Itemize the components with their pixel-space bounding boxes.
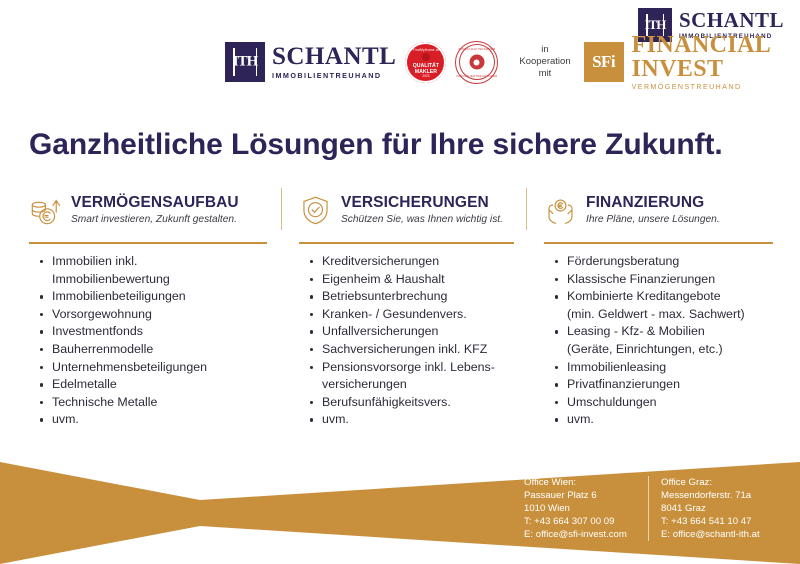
ith-monogram-text: ITH (225, 54, 265, 71)
list-item: Vorsorgewohnung (40, 306, 267, 324)
column-subtitle: Schützen Sie, was Ihnen wichtig ist. (341, 214, 503, 225)
ith-brand-name: SCHANTL (272, 44, 396, 69)
list-item: uvm. (40, 411, 267, 429)
qualitaetsmakler-seal-icon: FindMyHome.at QUALITÄT MAKLER 2023 (405, 42, 446, 83)
service-column-versicherungen: VERSICHERUNGEN Schützen Sie, was Ihnen w… (281, 188, 526, 429)
office-email[interactable]: E: office@schantl-ith.at (661, 528, 760, 541)
service-list: Kreditversicherungen Eigenheim & Haushal… (299, 253, 514, 429)
sfi-financial-invest-logo: SFi FINANCIAL INVEST VERMÖGENSTREUHAND (584, 33, 800, 91)
sfi-monogram-text: SFi (584, 52, 624, 72)
ith-wordmark: SCHANTL IMMOBILIENTREUHAND (272, 44, 396, 79)
list-item: Pensionsvorsorge inkl. Lebens- (310, 359, 514, 377)
list-item: Kranken- / Gesundenvers. (310, 306, 514, 324)
ith-monogram-icon: ITH (225, 42, 265, 82)
seal-bottom-text: IMMOBILIENTREUHÄNDER (456, 74, 497, 78)
partner-logo-row: ITH SCHANTL IMMOBILIENTREUHAND FindMyHom… (225, 33, 800, 91)
office-phone[interactable]: T: +43 664 307 00 09 (524, 515, 648, 528)
list-item: Sachversicherungen inkl. KFZ (310, 341, 514, 359)
footer-contact-info: Office Wien: Passauer Platz 6 1010 Wien … (524, 476, 760, 541)
list-item: Eigenheim & Haushalt (310, 271, 514, 289)
list-item: (Geräte, Einrichtungen, etc.) (555, 341, 773, 359)
list-item: Leasing - Kfz- & Mobilien (555, 323, 773, 341)
office-name: Office Wien: (524, 476, 648, 489)
column-divider-rule (544, 242, 773, 244)
marketing-flyer-page: ITH SCHANTL IMMOBILIENTREUHAND ITH SCHAN… (0, 0, 800, 564)
column-subtitle: Ihre Pläne, unsere Lösungen. (586, 214, 720, 225)
column-title: VERMÖGENSAUFBAU (71, 194, 239, 211)
column-title: FINANZIERUNG (586, 194, 720, 211)
cooperation-line-1: in (519, 44, 570, 56)
list-item: Immobilienleasing (555, 359, 773, 377)
logo-bar: ITH SCHANTL IMMOBILIENTREUHAND ITH SCHAN… (0, 0, 800, 108)
ith-monogram-text: ITH (638, 17, 672, 33)
list-item: Umschuldungen (555, 394, 773, 412)
office-city: 1010 Wien (524, 502, 648, 515)
list-item: Klassische Finanzierungen (555, 271, 773, 289)
office-street: Passauer Platz 6 (524, 489, 648, 502)
list-item: Unfallversicherungen (310, 323, 514, 341)
seal-crest-icon (469, 55, 484, 70)
list-item: Bauherrenmodelle (40, 341, 267, 359)
list-item: Unternehmensbeteiligungen (40, 359, 267, 377)
service-column-vermoegensaufbau: VERMÖGENSAUFBAU Smart investieren, Zukun… (29, 188, 281, 429)
list-item: Förderungsberatung (555, 253, 773, 271)
ith-brand-name: SCHANTL (679, 10, 784, 31)
service-column-finanzierung: FINANZIERUNG Ihre Pläne, unsere Lösungen… (526, 188, 773, 429)
column-divider-rule (29, 242, 267, 244)
column-titles: VERMÖGENSAUFBAU Smart investieren, Zukun… (71, 194, 239, 225)
cooperation-note: in Kooperation mit (519, 44, 570, 80)
list-item: Kreditversicherungen (310, 253, 514, 271)
list-item: Privatfinanzierungen (555, 376, 773, 394)
coins-euro-growth-icon (29, 194, 62, 227)
column-header: VERMÖGENSAUFBAU Smart investieren, Zukun… (29, 188, 267, 232)
list-item: (min. Geldwert - max. Sachwert) (555, 306, 773, 324)
sfi-brand-subtitle: VERMÖGENSTREUHAND (632, 84, 800, 91)
column-title: VERSICHERUNGEN (341, 194, 503, 211)
office-email[interactable]: E: office@sfi-invest.com (524, 528, 648, 541)
list-item: Immobilienbewertung (40, 271, 267, 289)
office-wien-block: Office Wien: Passauer Platz 6 1010 Wien … (524, 476, 648, 541)
column-titles: VERSICHERUNGEN Schützen Sie, was Ihnen w… (341, 194, 503, 225)
office-name: Office Graz: (661, 476, 760, 489)
list-item: Edelmetalle (40, 376, 267, 394)
list-item: Immobilien inkl. (40, 253, 267, 271)
list-item: versicherungen (310, 376, 514, 394)
list-item: uvm. (310, 411, 514, 429)
service-list: Förderungsberatung Klassische Finanzieru… (544, 253, 773, 429)
seal-top-text: WIRTSCHAFTSKAMMER (456, 47, 497, 51)
column-subtitle: Smart investieren, Zukunft gestalten. (71, 214, 239, 225)
office-phone[interactable]: T: +43 664 541 10 47 (661, 515, 760, 528)
ith-schantl-logo-main: ITH SCHANTL IMMOBILIENTREUHAND (225, 42, 396, 82)
list-item: uvm. (555, 411, 773, 429)
list-item: Betriebsunterbrechung (310, 288, 514, 306)
sfi-wordmark: FINANCIAL INVEST VERMÖGENSTREUHAND (632, 33, 800, 91)
office-graz-block: Office Graz: Messendorferstr. 71a 8041 G… (648, 476, 760, 541)
list-item: Immobilienbeteiligungen (40, 288, 267, 306)
cooperation-line-2: Kooperation (519, 56, 570, 68)
list-item: Kombinierte Kreditangebote (555, 288, 773, 306)
seal-mid-line-1: QUALITÄT (413, 63, 439, 69)
list-item: Technische Metalle (40, 394, 267, 412)
office-street: Messendorferstr. 71a (661, 489, 760, 502)
column-header: VERSICHERUNGEN Schützen Sie, was Ihnen w… (299, 188, 514, 232)
page-headline: Ganzheitliche Lösungen für Ihre sichere … (29, 128, 723, 162)
seal-bottom-text: 2023 (405, 74, 446, 78)
sfi-brand-name: FINANCIAL INVEST (632, 33, 800, 81)
column-titles: FINANZIERUNG Ihre Pläne, unsere Lösungen… (586, 194, 720, 225)
wirtschaftskammer-seal-icon: WIRTSCHAFTSKAMMER IMMOBILIENTREUHÄNDER (455, 41, 498, 84)
list-item: Investmentfonds (40, 323, 267, 341)
sfi-monogram-icon: SFi (584, 42, 624, 82)
service-columns: VERMÖGENSAUFBAU Smart investieren, Zukun… (29, 188, 773, 429)
list-item: Berufsunfähigkeitsvers. (310, 394, 514, 412)
service-list: Immobilien inkl. Immobilienbewertung Imm… (29, 253, 267, 429)
hands-holding-coin-icon (544, 194, 577, 227)
ith-brand-subtitle: IMMOBILIENTREUHAND (272, 72, 396, 79)
shield-check-icon (299, 194, 332, 227)
column-divider-rule (299, 242, 514, 244)
cooperation-line-3: mit (519, 68, 570, 80)
office-city: 8041 Graz (661, 502, 760, 515)
seal-top-text: FindMyHome.at (405, 48, 446, 52)
column-header: FINANZIERUNG Ihre Pläne, unsere Lösungen… (544, 188, 773, 232)
seal-emblem-icon (422, 53, 430, 61)
